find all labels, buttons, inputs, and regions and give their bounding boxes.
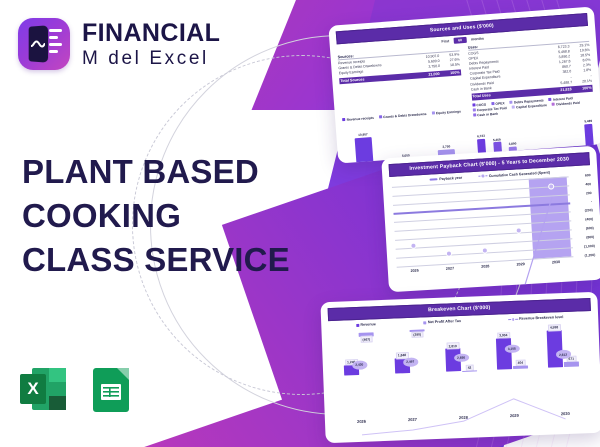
y-tick-label: (600) [586,226,594,230]
y-tick-label: (800) [586,235,594,239]
legend-breakeven-level-label: Revenue Breakeven level [519,315,563,321]
period-right-label: months [471,37,484,42]
uses-legend-swatch [473,113,476,116]
sources-value: 3,750.0 [413,64,440,70]
uses-legend-label: COGS [476,102,486,107]
legend-npat-label: Net Profit After Tax [428,319,461,324]
logo-rows-icon [49,29,62,59]
breakeven-level-marker: 2,612 [555,350,570,359]
legend-revenue-label: Revenue [360,323,376,328]
breakeven-level-marker: 2,497 [403,357,418,366]
uses-legend-label: Capital Expenditure [516,103,547,109]
page-title: PLANT BASED COOKING CLASS SERVICE [22,150,290,282]
x-tick-label: 2030 [540,410,591,417]
uses-legend-swatch [552,103,555,106]
card-sources-and-uses[interactable]: Sources and Uses ($'000) First 60 months… [328,6,600,163]
breakeven-level-marker: 3,105 [504,344,519,353]
uses-total-value: 21,818 [545,88,572,94]
payback-point [515,228,521,234]
breakeven-level-marker: 2,650 [453,353,468,362]
uses-legend-swatch [472,103,475,106]
sources-total-label: Total Sources [340,74,413,83]
brand-lockup: FINANCIAL M del Excel [18,18,220,70]
uses-total-label: Total Uses [472,90,545,99]
uses-pct: 20.1% [572,78,592,83]
legend-breakeven-swatch [508,318,517,321]
y-tick-label: 600 [585,173,591,177]
financial-model-logo-icon [18,18,70,70]
uses-legend-swatch [509,101,512,104]
legend-payback-year-label: Payback year [439,176,462,181]
brand-name-secondary: M del Excel [82,49,220,68]
legend-revenue-swatch [356,324,359,327]
uses-bar-label: 3,890 [508,141,516,146]
payback-data-points [392,176,573,266]
sources-pct: 18.5% [440,63,460,68]
legend-breakeven-level: Revenue Breakeven level [508,315,563,321]
uses-legend-item: Cash in Bank [473,111,499,117]
period-left-label: First [441,39,449,44]
page-title-line-1: PLANT BASED [22,150,290,194]
sources-legend-label: Revenue receipts [346,115,374,121]
legend-revenue: Revenue [356,323,376,328]
sheets-icon-fold [117,368,129,380]
page-title-line-2: COOKING [22,194,290,238]
uses-legend-swatch [472,108,475,111]
sources-legend-swatch [379,115,382,118]
sources-legend-swatch [431,111,434,114]
y-tick-label: 200 [586,191,592,195]
brand-name-primary: FINANCIAL [82,21,220,46]
uses-table: Uses: COGS6,723.329.1%OPEX5,468.819.6%De… [468,37,593,100]
sources-total-value: 21,000 [413,72,440,78]
payback-point [410,243,416,249]
uses-bar-label: 6,723 [477,134,485,139]
legend-npat-swatch [423,321,426,324]
sources-table: Sources: Revenue receipts10,907.053.9%Gr… [337,46,462,109]
card-breakeven-chart[interactable]: Breakeven Chart ($'000) Revenue Net Prof… [320,292,600,444]
uses-legend-label: Cash in Bank [477,111,498,117]
breakeven-level-marker: 2,430 [352,360,367,369]
y-tick-label: (1,000) [584,244,595,249]
sources-legend-item: Revenue receipts [342,110,375,126]
sources-legend-item: Grants & Debts Drawdowns [378,107,427,124]
sources-legend-label: Grants & Debts Drawdowns [383,112,427,119]
sources-bar-group: 10,907 [354,127,374,164]
uses-legend-item: Dividends Paid [552,100,580,106]
x-tick-label: 2029 [489,412,540,419]
legend-band-swatch [430,178,438,181]
card-investment-payback[interactable]: Investment Payback Chart ($'000) - 5 Yea… [381,146,600,293]
uses-legend-label: Dividends Paid [556,100,580,106]
uses-legend-swatch [548,98,551,101]
payback-point [548,183,554,189]
sources-legend-item: Equity Earnings [431,104,461,120]
excel-icon[interactable]: X [20,366,66,412]
legend-cumulative-cash-label: Cumulative Cash Generated (Spent) [489,170,550,178]
payback-point [481,247,487,253]
payback-y-axis-labels: 600400200-(200)(400)(600)(800)(1,000)(1,… [570,175,596,256]
uses-legend-swatch [491,102,494,105]
y-tick-label: (400) [585,217,593,221]
x-tick-label: 2028 [438,414,489,421]
y-tick-label: - [591,200,592,204]
breakeven-plot-area: 1,240 (467) 1,848 (290) 2,819 42 [332,320,590,416]
sources-total-pct: 100% [439,70,459,75]
y-tick-label: (200) [585,208,593,212]
google-sheets-icon[interactable] [88,366,134,412]
x-tick-label: 2026 [336,418,387,425]
excel-icon-letter: X [20,374,46,404]
legend-npat: Net Profit After Tax [423,319,461,324]
logo-wave-icon [31,40,45,48]
payback-point [446,251,452,257]
y-tick-label: 400 [585,182,591,186]
sources-legend-label: Equity Earnings [436,109,461,115]
payback-plot-area: 600400200-(200)(400)(600)(800)(1,000)(1,… [392,176,573,266]
breakeven-level-markers: 2,4302,4972,6503,1052,612 [332,320,590,416]
x-tick-label: 2027 [387,416,438,423]
file-format-icons: X [20,366,134,412]
y-tick-label: (1,200) [584,253,595,258]
uses-legend-label: OPEX [495,101,504,106]
page-title-line-3: CLASS SERVICE [22,238,290,282]
sources-legend-swatch [342,118,345,121]
period-value[interactable]: 60 [453,37,467,44]
uses-total-pct: 100% [571,86,591,91]
poster-canvas: FINANCIAL M del Excel PLANT BASED COOKIN… [0,0,600,447]
sources-bar [355,137,375,163]
legend-line-swatch [478,175,487,178]
uses-legend-swatch [512,106,515,109]
uses-value: 5,488.7 [545,80,572,86]
sheets-icon-table [101,384,121,400]
legend-payback-year: Payback year [430,176,463,182]
